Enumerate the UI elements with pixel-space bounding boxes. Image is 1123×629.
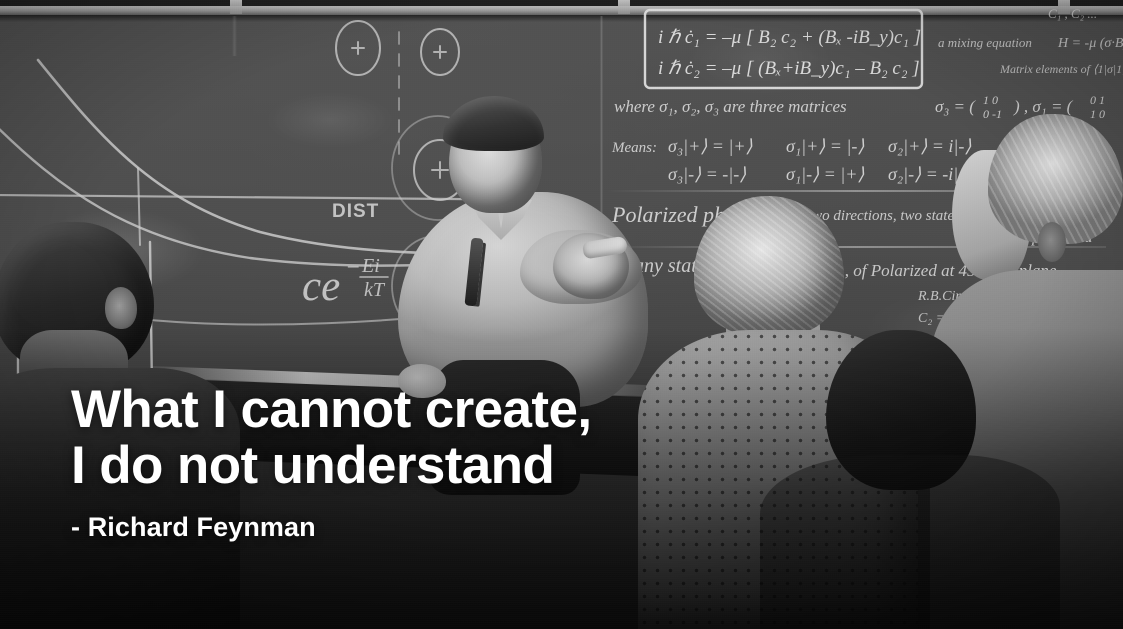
svg-text:σ₂|+⟩ = i|-⟩: σ₂|+⟩ = i|-⟩ [888,136,971,156]
svg-text:i ℏ ċ₂ = –μ [ (Bₓ+iB_y)c₁ – B: i ℏ ċ₂ = –μ [ (Bₓ+iB_y)c₁ – B₂ c₂ ] [658,58,920,79]
student-left-ear [105,287,137,329]
svg-text:Ei: Ei [361,255,380,277]
svg-text:–: – [347,253,359,277]
svg-text:H = -μ (σ·B): H = -μ (σ·B) [1057,36,1123,51]
svg-text:kT: kT [364,279,386,301]
student-foreground-body [760,455,1060,629]
svg-text:0 -1: 0 -1 [983,107,1002,121]
svg-text:1 0: 1 0 [1090,107,1105,121]
svg-text:i ℏ ċ₁ = –μ [ B₂ c₂ + (Bₓ -iB: i ℏ ċ₁ = –μ [ B₂ c₂ + (Bₓ -iB_y)c₁ ] [658,27,921,48]
svg-text:1 0: 1 0 [983,93,998,107]
svg-text:0 1: 0 1 [1090,93,1105,107]
quote-line-1: What I cannot create, [71,382,771,438]
student-plaid-ear [1038,222,1066,262]
svg-text:σ₁|-⟩ = |+⟩: σ₁|-⟩ = |+⟩ [786,164,864,184]
svg-text:Matrix elements of ⟨1|σ|1⟩: Matrix elements of ⟨1|σ|1⟩ [999,62,1123,76]
quote-attribution: - Richard Feynman [71,512,771,542]
quote-image: DIST ce – Ei kT [0,0,1123,629]
svg-text:σ₃|-⟩ = -|-⟩: σ₃|-⟩ = -|-⟩ [668,164,746,184]
svg-text:σ₁|+⟩ = |-⟩: σ₁|+⟩ = |-⟩ [786,136,864,156]
svg-text:ce: ce [302,263,340,310]
svg-text:where σ₁, σ₂, σ₃ are three ma: where σ₁, σ₂, σ₃ are three matrices [614,97,847,116]
svg-text:Means:: Means: [611,140,657,156]
svg-text:σ₃|+⟩ = |+⟩: σ₃|+⟩ = |+⟩ [668,136,753,156]
svg-text:DIST: DIST [332,201,379,222]
quote-overlay: What I cannot create, I do not understan… [71,382,771,542]
quote-line-2: I do not understand [71,438,771,494]
svg-text:C₁ , C₂ ...: C₁ , C₂ ... [1048,6,1097,21]
svg-text:two directions, two states: two directions, two states [808,208,960,224]
svg-text:) , σ₁ = (: ) , σ₁ = ( [1013,97,1074,116]
svg-text:σ₃ = (: σ₃ = ( [935,97,976,116]
svg-text:a mixing equation: a mixing equation [938,35,1032,50]
